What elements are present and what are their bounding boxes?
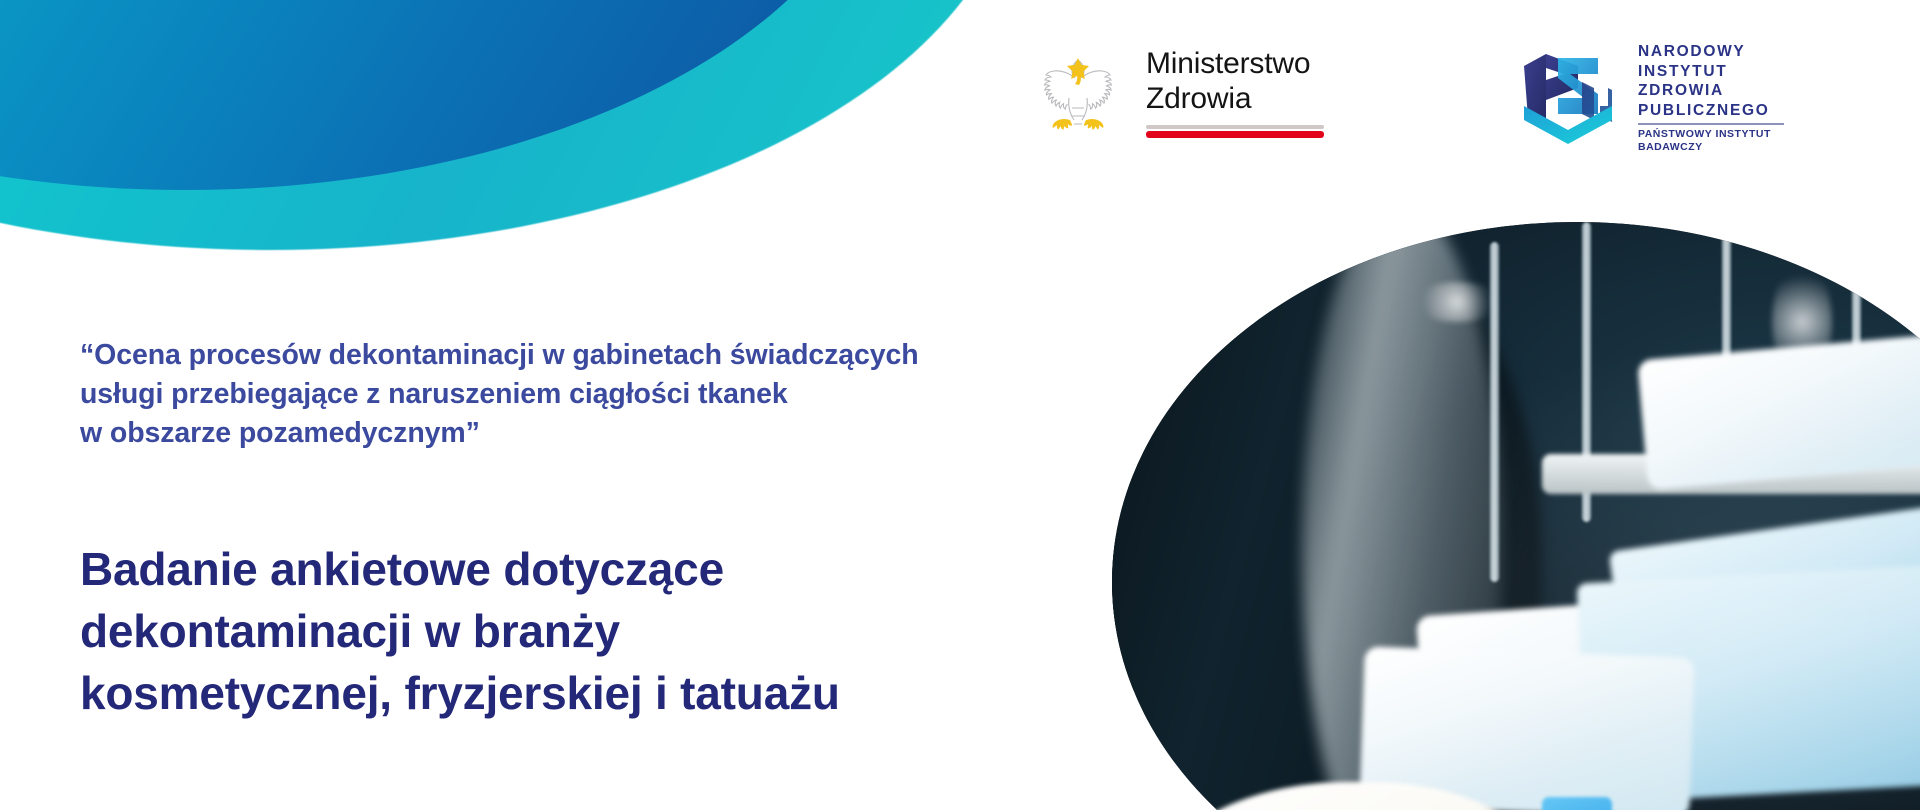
ministry-line-2: Zdrowia (1146, 81, 1324, 116)
quote-line-3: w obszarze pozamedycznym” (80, 414, 1090, 453)
pzh-line-1: NARODOWY (1638, 42, 1784, 62)
pzh-subline-2: BADAWCZY (1638, 141, 1784, 154)
headline-line-2: dekontaminacji w branży (80, 600, 1140, 662)
quote-line-1: “Ocena procesów dekontaminacji w gabinet… (80, 336, 1090, 375)
national-institute-of-public-health-logo: NARODOWY INSTYTUT ZDROWIA PUBLICZNEGO PA… (1512, 36, 1784, 154)
headline-line-3: kosmetycznej, fryzjerskiej i tatuażu (80, 662, 1140, 724)
ministry-line-1: Ministerstwo (1146, 46, 1324, 81)
polish-flag-bar (1146, 125, 1324, 138)
pzh-line-2: INSTYTUT (1638, 62, 1784, 82)
slide-canvas: Ministerstwo Zdrowia (0, 0, 1920, 810)
autoclave-sterilization-photo (1112, 222, 1920, 810)
photo-soft-light (1112, 222, 1920, 810)
flag-red-stripe (1146, 131, 1324, 138)
ministry-of-health-wordmark: Ministerstwo Zdrowia (1146, 38, 1324, 138)
pzh-subline-1: PAŃSTWOWY INSTYTUT (1638, 128, 1784, 141)
photo-content (1112, 222, 1920, 810)
pzh-divider (1638, 123, 1784, 125)
pzh-line-3: ZDROWIA (1638, 81, 1784, 101)
study-title-quote: “Ocena procesów dekontaminacji w gabinet… (80, 336, 1090, 453)
headline-line-1: Badanie ankietowe dotyczące (80, 538, 1140, 600)
quote-line-2: usługi przebiegające z naruszeniem ciągł… (80, 375, 1090, 414)
polish-eagle-emblem-icon (1022, 38, 1134, 150)
logo-bar: Ministerstwo Zdrowia (0, 0, 1920, 200)
pzh-line-4: PUBLICZNEGO (1638, 101, 1784, 121)
ministry-of-health-logo: Ministerstwo Zdrowia (1022, 38, 1324, 150)
pzh-wordmark: NARODOWY INSTYTUT ZDROWIA PUBLICZNEGO PA… (1638, 36, 1784, 154)
page-title: Badanie ankietowe dotyczące dekontaminac… (80, 538, 1140, 724)
flag-white-stripe (1146, 125, 1324, 129)
pzh-monogram-icon (1512, 36, 1624, 148)
